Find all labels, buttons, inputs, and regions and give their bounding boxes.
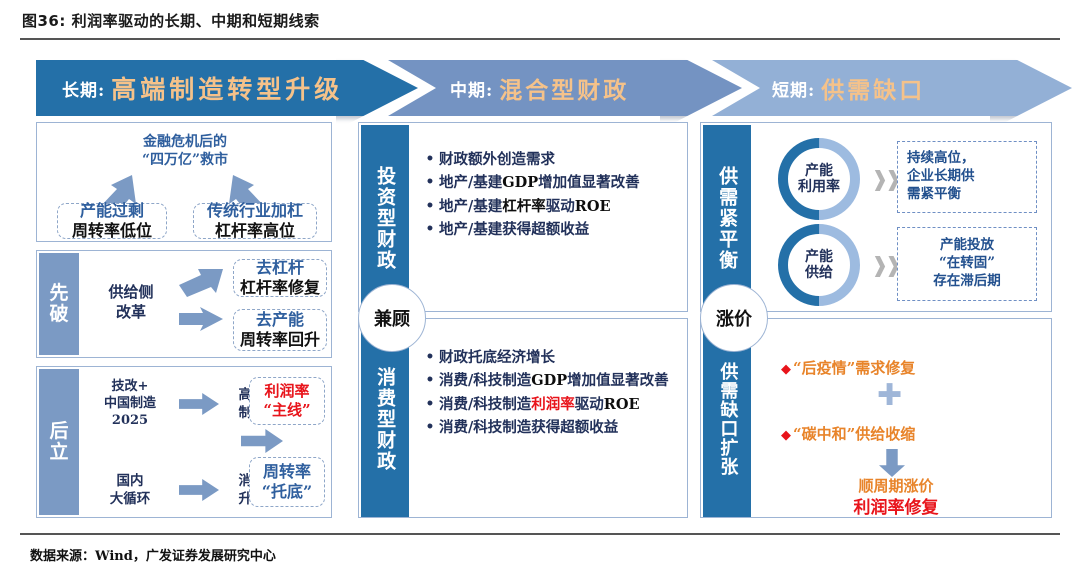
sidebar-consumption-fiscal-label: 消费型财政 [373, 367, 397, 472]
sidebar-supply-gap-label: 供需缺口扩张 [716, 362, 739, 476]
badge-jiangu: 兼顾 [358, 284, 426, 352]
badge-jiangu-label: 兼顾 [374, 305, 410, 331]
bullet-dot-icon: • [421, 370, 439, 392]
banner-short-period: 短期: [772, 76, 815, 101]
sidebar-investment-fiscal-label: 投资型财政 [373, 166, 397, 271]
bullet-investment-item-text: 地产/基建获得超额收益 [439, 219, 679, 241]
bullet-consumption-item-text: 财政托底经济增长 [439, 347, 679, 369]
bullet-dot-icon: • [421, 172, 439, 194]
ring-capacity-supply-line1: 产能 [805, 249, 833, 265]
column-short-term: 供需紧平衡 产能 利用率 ❱❱ 持续高位， 企业长期供 需紧平衡 [700, 122, 1052, 518]
bullet-consumption-item-text: 消费/科技制造利润率驱动ROE [439, 394, 679, 416]
box-traditional-leverage-line2: 杠杆率高位 [215, 221, 295, 241]
box-traditional-leverage-line1: 传统行业加杠 [207, 201, 303, 221]
box-deleverage: 去杠杆 杠杆率修复 [233, 259, 327, 297]
bullet-consumption-item-text: 消费/科技制造GDP增加值显著改善 [439, 370, 679, 392]
arrow-tech-to-highend [179, 393, 219, 415]
bullet-consumption-item-text: 消费/科技制造获得超额收益 [439, 417, 679, 439]
bullet-investment-item-text: 财政额外创造需求 [439, 149, 679, 171]
bullet-investment-item-text: 地产/基建GDP增加值显著改善 [439, 172, 679, 194]
note-capacity-supply-line2: “在转固” [939, 255, 995, 273]
panel-tight-balance: 供需紧平衡 产能 利用率 ❱❱ 持续高位， 企业长期供 需紧平衡 [700, 122, 1052, 312]
panel-investment-fiscal: 投资型财政 •财政额外创造需求•地产/基建GDP增加值显著改善•地产/基建杠杆率… [358, 122, 688, 312]
note-capacity-utilization: 持续高位， 企业长期供 需紧平衡 [897, 141, 1037, 213]
panel-supply-side-reform: 先 破 供给侧 改革 去杠杆 杠杆率修复 去产能 周转率回升 [36, 250, 332, 358]
bullet-investment-item-text: 地产/基建杠杆率驱动ROE [439, 196, 679, 218]
box-decapacity-line1: 去产能 [256, 310, 304, 330]
bullet-consumption-item: •消费/科技制造利润率驱动ROE [421, 394, 679, 416]
bullet-consumption-item: •消费/科技制造获得超额收益 [421, 417, 679, 439]
badge-zhangjia: 涨价 [700, 284, 768, 352]
banner-arrow-long-term: 长期: 高端制造转型升级 [36, 60, 418, 116]
driver-post-pandemic-demand: ◆“后疫情”需求修复 [781, 357, 915, 378]
banner-arrow-mid-term: 中期: 混合型财政 [388, 60, 742, 116]
bullet-investment-item: •地产/基建GDP增加值显著改善 [421, 172, 679, 194]
bullet-dot-icon: • [421, 219, 439, 241]
sidebar-houli: 后 立 [39, 369, 79, 515]
bullet-dot-icon: • [421, 347, 439, 369]
bullet-investment-item: •财政额外创造需求 [421, 149, 679, 171]
panel-supply-gap: 供需缺口扩张 ◆“后疫情”需求修复 ✚ ◆“碳中和”供给收缩 顺周期涨价 利润率… [700, 318, 1052, 518]
result-line1: 顺周期涨价 [811, 477, 981, 497]
box-decapacity-line2: 周转率回升 [240, 330, 320, 350]
bullet-consumption-item: •消费/科技制造GDP增加值显著改善 [421, 370, 679, 392]
bullets-investment-fiscal: •财政额外创造需求•地产/基建GDP增加值显著改善•地产/基建杠杆率驱动ROE•… [421, 149, 679, 243]
note-capacity-supply-line3: 存在滞后期 [933, 273, 1001, 291]
box-deleverage-line1: 去杠杆 [256, 258, 304, 278]
banner-mid-theme: 混合型财政 [499, 71, 629, 105]
note-capacity-supply-line1: 产能投放 [940, 237, 994, 255]
sidebar-houli-c2: 立 [49, 442, 68, 463]
bullet-dot-icon: • [421, 394, 439, 416]
note-capacity-utilization-line3: 需紧平衡 [907, 186, 1036, 204]
box-turnover-floor-line1: 周转率 [263, 462, 311, 482]
banner-short-theme: 供需缺口 [821, 71, 925, 105]
ring-capacity-utilization-line2: 利用率 [798, 179, 840, 195]
column-long-term: 金融危机后的 “四万亿”救市 产能过剩 周转率低位 传统行业加杠 杠杆率高位 先… [36, 122, 332, 518]
banner-long-theme: 高端制造转型升级 [111, 70, 343, 106]
figure-root: 图36: 利润率驱动的长期、中期和短期线索 数据来源：Wind，广发证券发展研究… [0, 0, 1080, 571]
ring-capacity-supply: 产能 供给 [773, 219, 865, 311]
ring-capacity-supply-line2: 供给 [805, 265, 833, 281]
sidebar-tight-balance-label: 供需紧平衡 [715, 166, 739, 271]
box-turnover-floor-line2: “托底” [262, 482, 312, 502]
note-capacity-supply: 产能投放 “在转固” 存在滞后期 [897, 227, 1037, 301]
bullet-dot-icon: • [421, 196, 439, 218]
box-turnover-floor: 周转率 “托底” [249, 457, 325, 507]
box-overcapacity-line2: 周转率低位 [72, 221, 152, 241]
src-tech-upgrade-line1: 技改+ [85, 379, 175, 396]
bullet-investment-item: •地产/基建获得超额收益 [421, 219, 679, 241]
panel-financial-crisis: 金融危机后的 “四万亿”救市 产能过剩 周转率低位 传统行业加杠 杠杆率高位 [36, 122, 332, 242]
note-capacity-utilization-line1: 持续高位， [907, 150, 1036, 168]
src-tech-upgrade-line2: 中国制造 [85, 396, 175, 413]
sidebar-houli-c1: 后 [49, 421, 68, 442]
driver-carbon-neutral-supply: ◆“碳中和”供给收缩 [781, 423, 915, 444]
sidebar-tight-balance: 供需紧平衡 [703, 125, 751, 311]
bullet-investment-item: •地产/基建杠杆率驱动ROE [421, 196, 679, 218]
bullets-consumption-fiscal: •财政托底经济增长•消费/科技制造GDP增加值显著改善•消费/科技制造利润率驱动… [421, 347, 679, 441]
ring-capacity-utilization: 产能 利用率 [773, 133, 865, 225]
driver-carbon-neutral-supply-text: “碳中和”供给收缩 [793, 425, 915, 443]
box-profit-mainline-line2: “主线” [263, 401, 310, 420]
note-capacity-utilization-line2: 企业长期供 [907, 168, 1036, 186]
sidebar-investment-fiscal: 投资型财政 [361, 125, 409, 311]
ring-capacity-utilization-line1: 产能 [805, 163, 833, 179]
timeline-banner: 长期: 高端制造转型升级 中期: 混合型财政 短期: 供需缺口 [0, 0, 1080, 120]
src-tech-upgrade: 技改+ 中国制造 2025 [85, 379, 175, 430]
src-tech-upgrade-line3: 2025 [85, 413, 175, 430]
src-domestic-cycle: 国内 大循环 [85, 473, 175, 508]
banner-arrow-short-term: 短期: 供需缺口 [712, 60, 1072, 116]
bullet-consumption-item: •财政托底经济增长 [421, 347, 679, 369]
arrow-to-outcome [241, 429, 283, 453]
arrow-cycle-to-consumption [179, 479, 219, 501]
panel-new-establishment: 后 立 技改+ 中国制造 2025 高端 制造 国内 大循环 消费 升级 [36, 366, 332, 518]
bullet-dot-icon: • [421, 417, 439, 439]
badge-zhangjia-label: 涨价 [716, 305, 752, 331]
diamond-bullet-icon-1: ◆ [781, 362, 791, 377]
column-mid-term: 投资型财政 •财政额外创造需求•地产/基建GDP增加值显著改善•地产/基建杠杆率… [358, 122, 688, 518]
src-domestic-cycle-line2: 大循环 [85, 491, 175, 509]
src-domestic-cycle-line1: 国内 [85, 473, 175, 491]
box-profit-mainline: 利润率 “主线” [249, 377, 325, 425]
driver-post-pandemic-demand-text: “后疫情”需求修复 [793, 359, 915, 377]
box-traditional-leverage: 传统行业加杠 杠杆率高位 [193, 203, 317, 239]
box-overcapacity: 产能过剩 周转率低位 [57, 203, 167, 239]
box-deleverage-line2: 杠杆率修复 [240, 278, 320, 298]
result-line2: 利润率修复 [811, 497, 981, 519]
box-overcapacity-line1: 产能过剩 [80, 201, 144, 221]
banner-mid-period: 中期: [450, 76, 493, 101]
bullet-dot-icon: • [421, 149, 439, 171]
result-procyclical-price: 顺周期涨价 利润率修复 [811, 477, 981, 519]
arrow-down-to-result [879, 449, 905, 477]
plus-icon: ✚ [877, 381, 902, 411]
chevron-right-icon-1: ❱❱ [871, 167, 898, 191]
source-note: 数据来源：Wind，广发证券发展研究中心 [30, 545, 276, 564]
box-decapacity: 去产能 周转率回升 [233, 309, 327, 351]
chevron-right-icon-2: ❱❱ [871, 253, 898, 277]
divider-bottom [20, 533, 1060, 535]
box-profit-mainline-line1: 利润率 [264, 382, 309, 401]
diamond-bullet-icon-2: ◆ [781, 428, 791, 443]
banner-long-period: 长期: [62, 76, 105, 101]
